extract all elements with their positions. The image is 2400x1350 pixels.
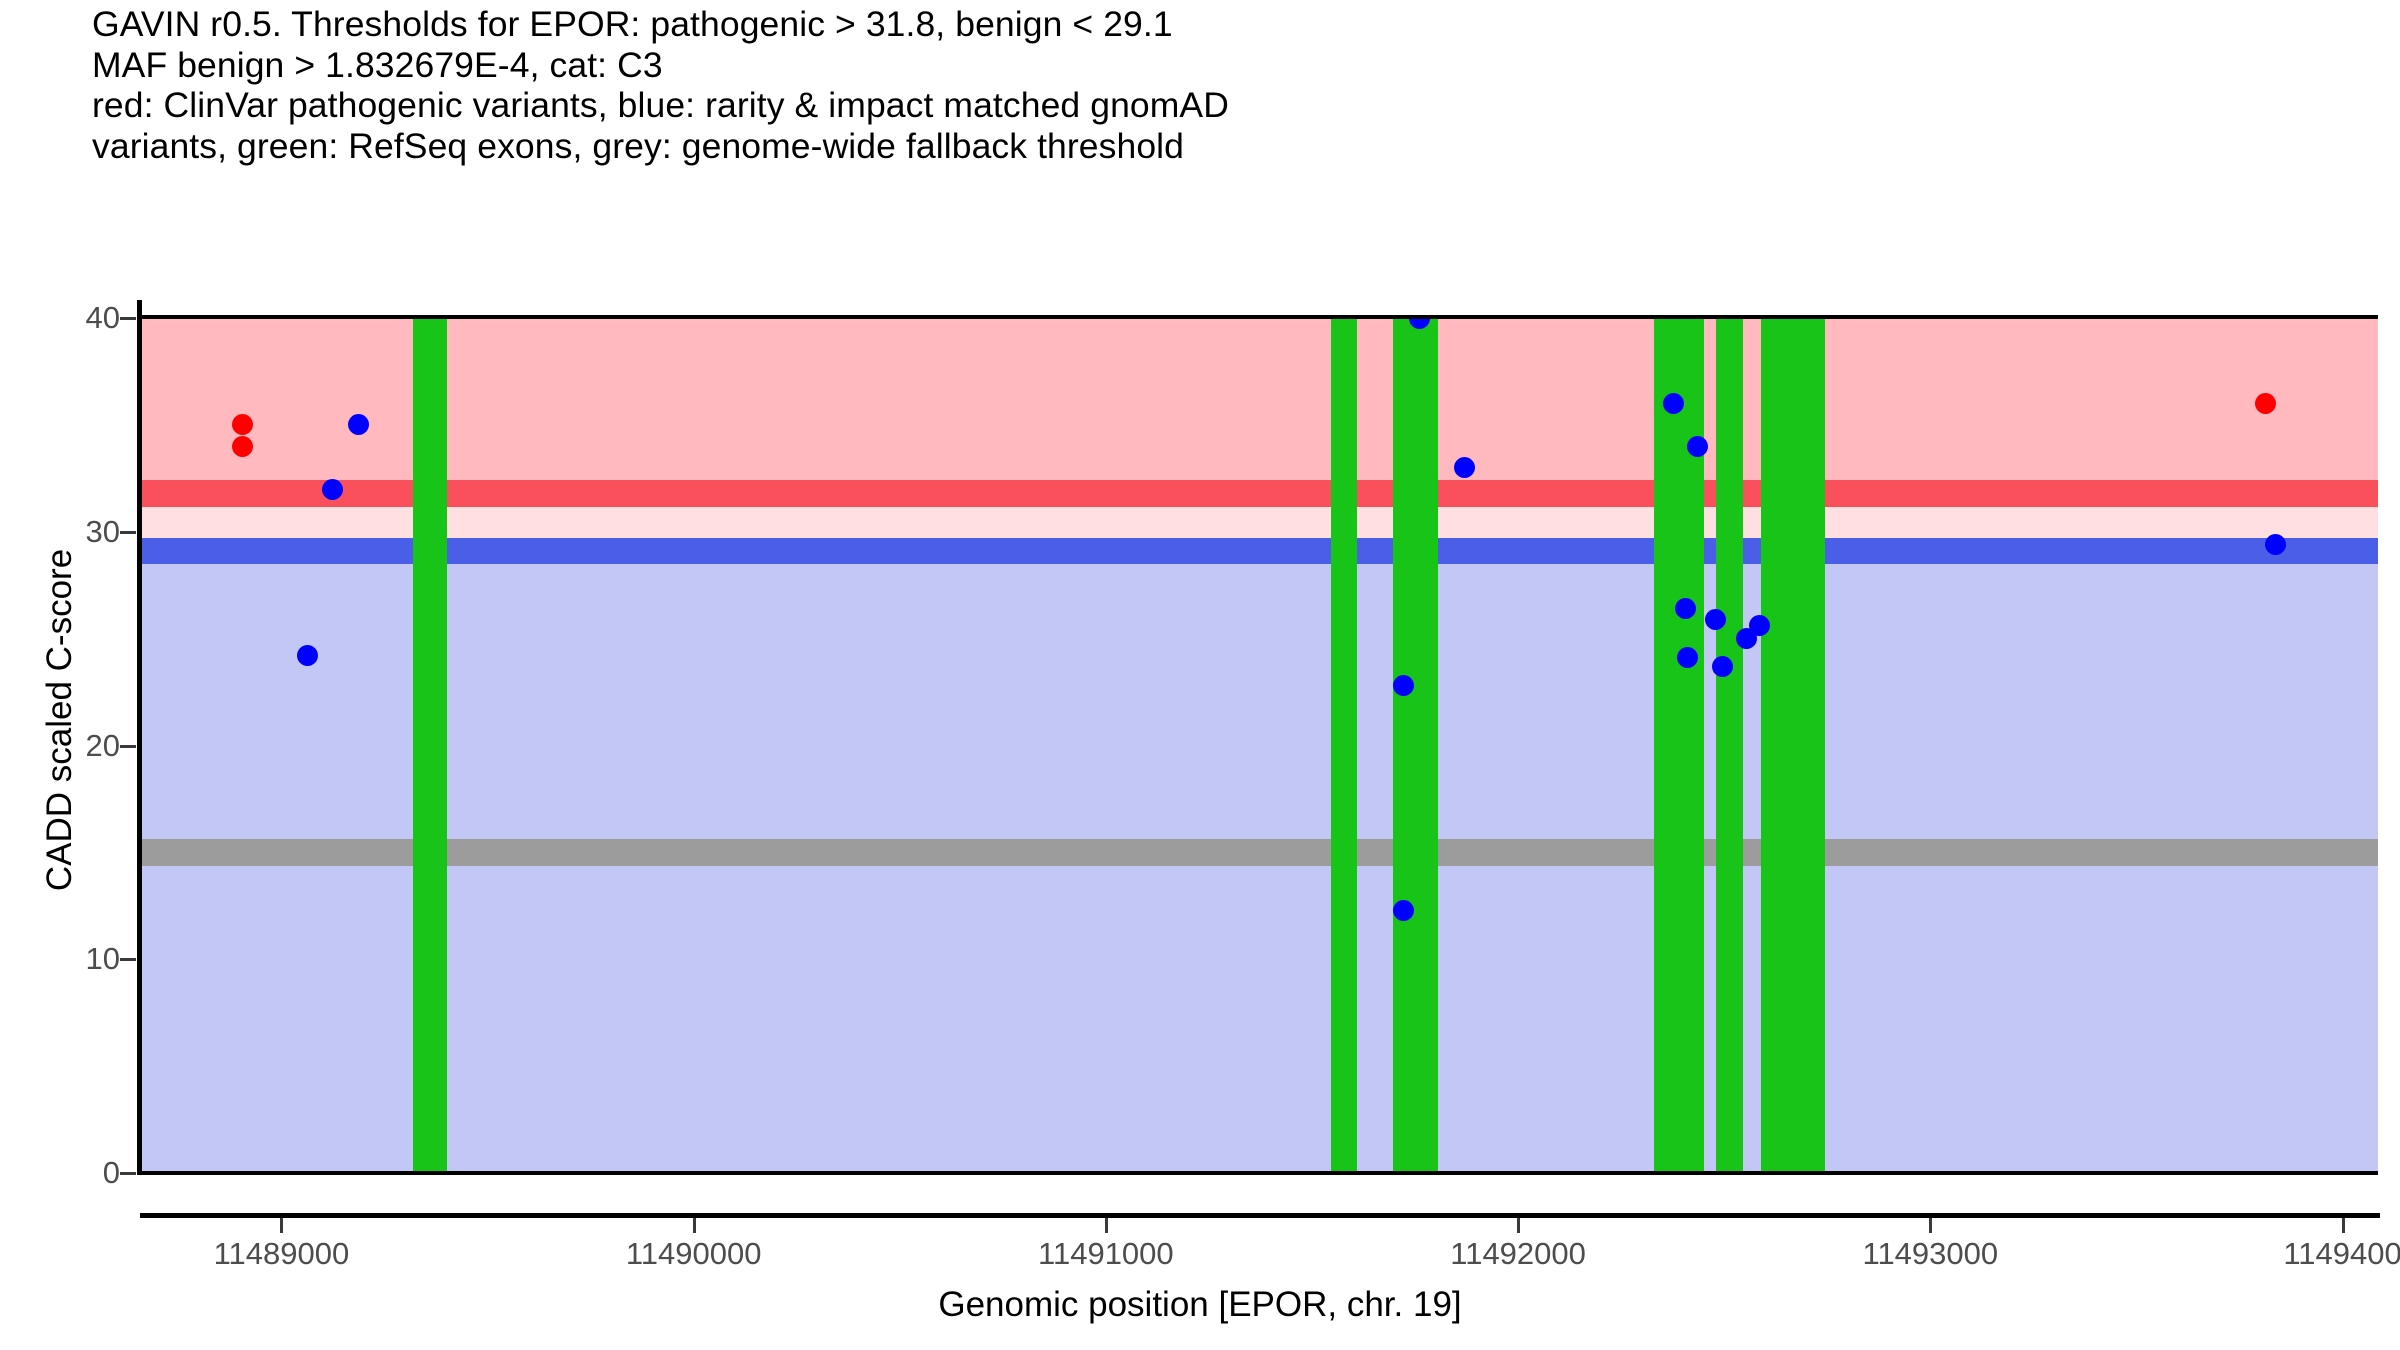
y-tick [120,958,136,961]
pathogenic-region-band [140,318,2378,480]
x-axis-line [140,1213,2380,1218]
exon-bar [1331,318,1358,1173]
pathogenic-threshold-line [140,480,2378,507]
x-tick [2342,1218,2345,1233]
x-tick [1929,1218,1932,1233]
y-tick [120,1172,136,1175]
gnomad-variant-point [1393,675,1414,696]
x-tick-label: 11491000 [1038,1236,1174,1272]
x-tick-label: 11492000 [1450,1236,1586,1272]
y-tick-label: 0 [0,1155,120,1191]
gnomad-variant-point [297,645,318,666]
x-tick [693,1218,696,1233]
exon-bar [1716,318,1743,1173]
gnomad-variant-point [1687,436,1708,457]
title-line-1: GAVIN r0.5. Thresholds for EPOR: pathoge… [92,4,2342,45]
benign-threshold-line [140,538,2378,565]
title-line-4: variants, green: RefSeq exons, grey: gen… [92,126,2342,167]
gnomad-variant-point [1454,457,1475,478]
x-tick-label: 11490000 [626,1236,762,1272]
gnomad-variant-point [1705,609,1726,630]
x-tick [1517,1218,1520,1233]
pathogenic-variant-point [2255,393,2276,414]
gnomad-variant-point [1675,598,1696,619]
exon-bar [1761,318,1825,1173]
x-axis-title: Genomic position [EPOR, chr. 19] [0,1285,2400,1325]
x-tick-label: 11489000 [214,1236,350,1272]
panel-top-border [140,315,2378,319]
chart-root: GAVIN r0.5. Thresholds for EPOR: pathoge… [0,0,2400,1350]
y-axis-title: CADD scaled C-score [40,330,80,1110]
x-tick [280,1218,283,1233]
gnomad-variant-point [322,479,343,500]
x-tick-label: 11493000 [1863,1236,1999,1272]
y-tick [120,531,136,534]
gnomad-variant-point [1393,900,1414,921]
exon-bar [1393,318,1438,1173]
gnomad-variant-point [348,414,369,435]
fallback-threshold-line [140,839,2378,866]
pathogenic-variant-point [232,436,253,457]
x-tick-label: 1149400 [2283,1236,2400,1272]
chart-title: GAVIN r0.5. Thresholds for EPOR: pathoge… [92,4,2342,166]
inconclusive-region-band [140,507,2378,538]
pathogenic-variant-point [232,414,253,435]
plot-panel [140,318,2378,1173]
exon-bar [413,318,447,1173]
x-tick [1105,1218,1108,1233]
title-line-3: red: ClinVar pathogenic variants, blue: … [92,85,2342,126]
panel-bottom-border [140,1171,2378,1175]
y-tick [120,317,136,320]
y-axis-line [137,300,142,1175]
benign-region-band [140,564,2378,1173]
y-tick [120,745,136,748]
title-line-2: MAF benign > 1.832679E-4, cat: C3 [92,45,2342,86]
